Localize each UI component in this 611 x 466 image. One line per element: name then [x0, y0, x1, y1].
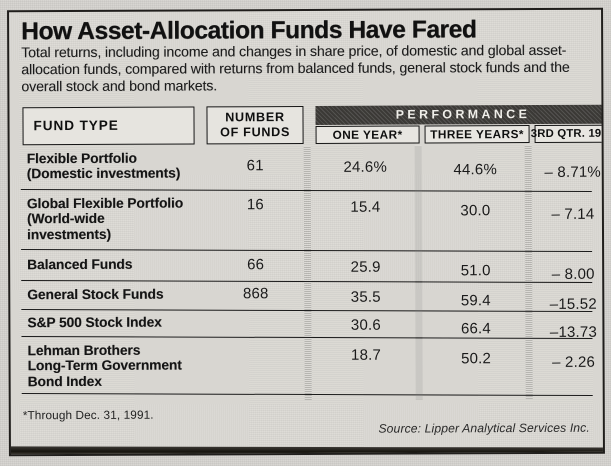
header-fund-type-label: FUND TYPE	[34, 118, 119, 133]
cell-one-year: 15.4	[313, 198, 418, 215]
header-number-of-funds-line1: NUMBER	[225, 110, 285, 125]
cell-number-of-funds: 16	[207, 196, 304, 213]
cell-third-quarter: – 2.26	[534, 353, 605, 370]
cell-third-quarter: – 8.71%	[533, 163, 605, 180]
cell-three-years: 44.6%	[423, 161, 528, 178]
row-label-line: Balanced Funds	[27, 256, 207, 273]
chart-frame: How Asset-Allocation Funds Have Fared To…	[7, 8, 605, 457]
row-label: Global Flexible Portfolio (World-wide in…	[27, 195, 207, 243]
source-credit: Source: Lipper Analytical Services Inc.	[378, 421, 589, 436]
row-label-line: investments)	[27, 227, 207, 244]
row-label: General Stock Funds	[27, 286, 207, 303]
cell-three-years: 51.0	[423, 262, 528, 279]
cell-number-of-funds: 66	[207, 256, 304, 273]
newspaper-page: How Asset-Allocation Funds Have Fared To…	[0, 0, 611, 466]
cell-third-quarter: – 8.00	[533, 265, 605, 282]
header-performance-band: PERFORMANCE	[315, 104, 605, 124]
header-three-years-label: THREE YEARS*	[430, 127, 524, 141]
row-label: Flexible Portfolio (Domestic investments…	[27, 150, 207, 182]
cell-three-years: 50.2	[424, 350, 529, 367]
header-third-quarter-label: 3RD QTR. 1990	[531, 127, 605, 139]
header-performance-label: PERFORMANCE	[396, 107, 531, 122]
row-label: S&P 500 Stock Index	[27, 314, 207, 331]
header-one-year-label: ONE YEAR*	[333, 127, 403, 141]
cell-one-year: 35.5	[313, 288, 418, 305]
header-third-quarter: 3RD QTR. 1990	[535, 124, 605, 142]
table-footer: *Through Dec. 31, 1991. Source: Lipper A…	[21, 404, 594, 440]
row-label-line: Lehman Brothers	[27, 342, 207, 359]
cell-one-year: 24.6%	[313, 158, 418, 175]
deck-text: Total returns, including income and chan…	[21, 43, 590, 96]
row-label-line: Flexible Portfolio	[27, 150, 207, 167]
cell-number-of-funds: 868	[207, 285, 304, 302]
header-fund-type: FUND TYPE	[22, 106, 194, 145]
row-label-line: (Domestic investments)	[27, 166, 207, 183]
cell-one-year: 18.7	[314, 346, 419, 363]
header-one-year: ONE YEAR*	[316, 125, 420, 143]
row-label-line: Bond Index	[28, 374, 208, 391]
cell-one-year: 25.9	[313, 258, 418, 275]
cell-number-of-funds: 61	[207, 157, 304, 174]
cell-three-years: 66.4	[423, 320, 528, 337]
cell-three-years: 30.0	[423, 202, 528, 219]
row-label-line: Global Flexible Portfolio	[27, 195, 207, 212]
data-table: FUND TYPE NUMBER OF FUNDS PERFORMANCE ON…	[20, 102, 592, 400]
header-three-years: THREE YEARS*	[425, 125, 530, 143]
row-label-line: General Stock Funds	[27, 286, 207, 303]
row-label-line: S&P 500 Stock Index	[27, 314, 207, 331]
row-label-line: Long-Term Government	[28, 358, 208, 375]
chart-inner: How Asset-Allocation Funds Have Fared To…	[9, 10, 603, 455]
column-rule-1	[304, 146, 312, 400]
header-number-of-funds: NUMBER OF FUNDS	[206, 106, 303, 144]
row-label-line: (World-wide	[27, 211, 207, 228]
cell-third-quarter: – 7.14	[533, 205, 605, 222]
row-label: Lehman Brothers Long-Term Government Bon…	[27, 342, 207, 390]
cell-one-year: 30.6	[313, 316, 418, 333]
cell-three-years: 59.4	[423, 292, 528, 309]
footnote: *Through Dec. 31, 1991.	[23, 408, 154, 423]
row-label: Balanced Funds	[27, 256, 207, 273]
page-title: How Asset-Allocation Funds Have Fared	[21, 17, 592, 45]
header-number-of-funds-line2: OF FUNDS	[220, 125, 290, 140]
